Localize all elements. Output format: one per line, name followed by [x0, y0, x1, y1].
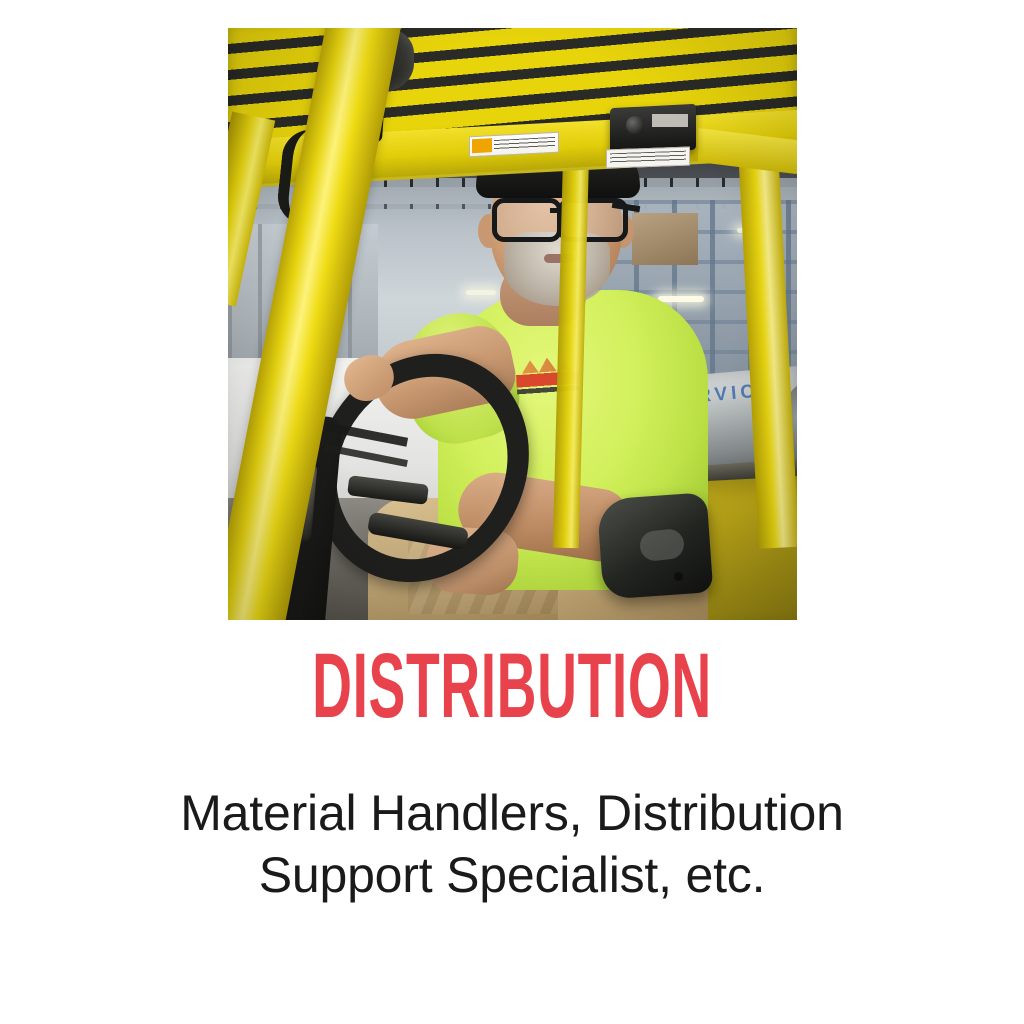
page-subtitle: Material Handlers, Distribution Support … [172, 782, 852, 906]
page-title: DISTRIBUTION [205, 640, 819, 732]
instruction-decal [606, 147, 690, 169]
safety-glasses-bridge [550, 208, 562, 213]
forklift-operator-photo: SERVICE [228, 28, 797, 620]
operator-beard [504, 232, 610, 306]
safety-glasses-left-lens [492, 198, 562, 242]
device-label [652, 114, 688, 127]
armrest-bolt-icon [674, 572, 683, 581]
device-lens-icon [626, 116, 644, 134]
ceiling-lamp-icon [658, 296, 704, 302]
cardboard-carton [632, 213, 698, 265]
distribution-category-card: SERVICE [0, 0, 1024, 1024]
ceiling-lamp-icon [466, 290, 496, 295]
